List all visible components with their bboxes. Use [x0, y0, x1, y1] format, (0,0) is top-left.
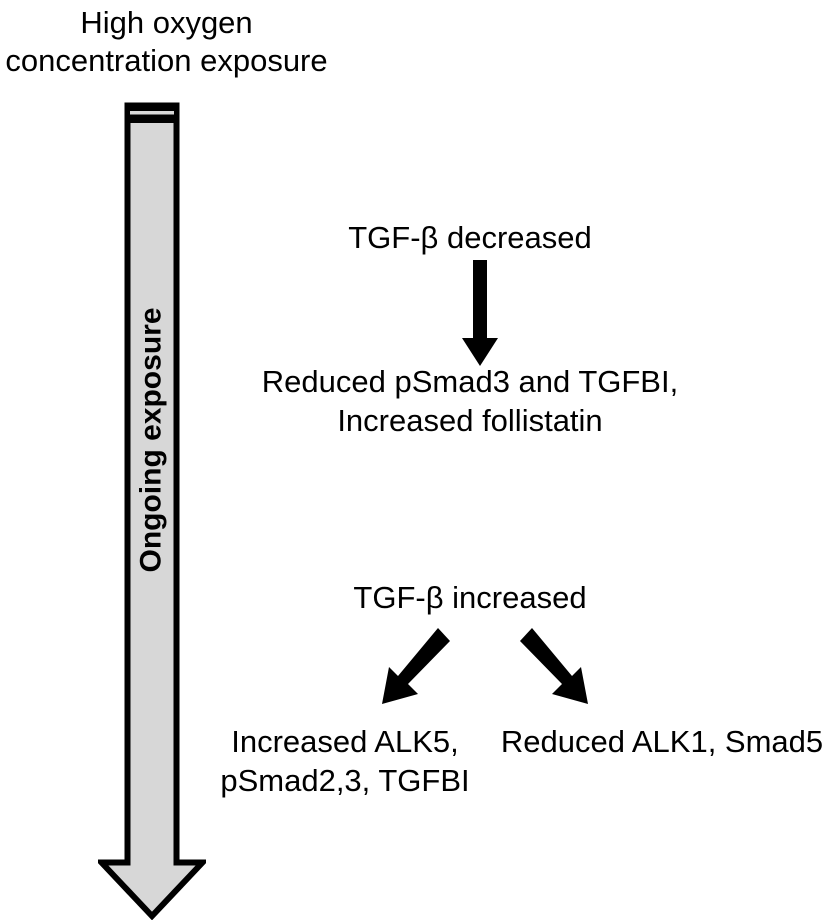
exposure-arrow-cap-line: [130, 111, 174, 115]
node-reduced-psmad3: Reduced pSmad3 and TGFBI, Increased foll…: [245, 362, 695, 440]
node-increased-alk5: Increased ALK5, pSmad2,3, TGFBI: [190, 722, 500, 800]
arrow-down-icon: [455, 258, 505, 370]
arrow-down-right-icon: [508, 624, 598, 716]
figure-title: High oxygen concentration exposure: [0, 4, 333, 80]
node-tgfb-decreased: TGF-β decreased: [310, 218, 630, 257]
node-tgfb-increased: TGF-β increased: [310, 578, 630, 617]
node-reduced-alk1: Reduced ALK1, Smad5: [495, 722, 829, 761]
exposure-arrow-body: [102, 106, 203, 917]
figure-canvas: High oxygen concentration exposure Ongoi…: [0, 0, 829, 922]
arrow-down-left-icon: [372, 624, 462, 716]
